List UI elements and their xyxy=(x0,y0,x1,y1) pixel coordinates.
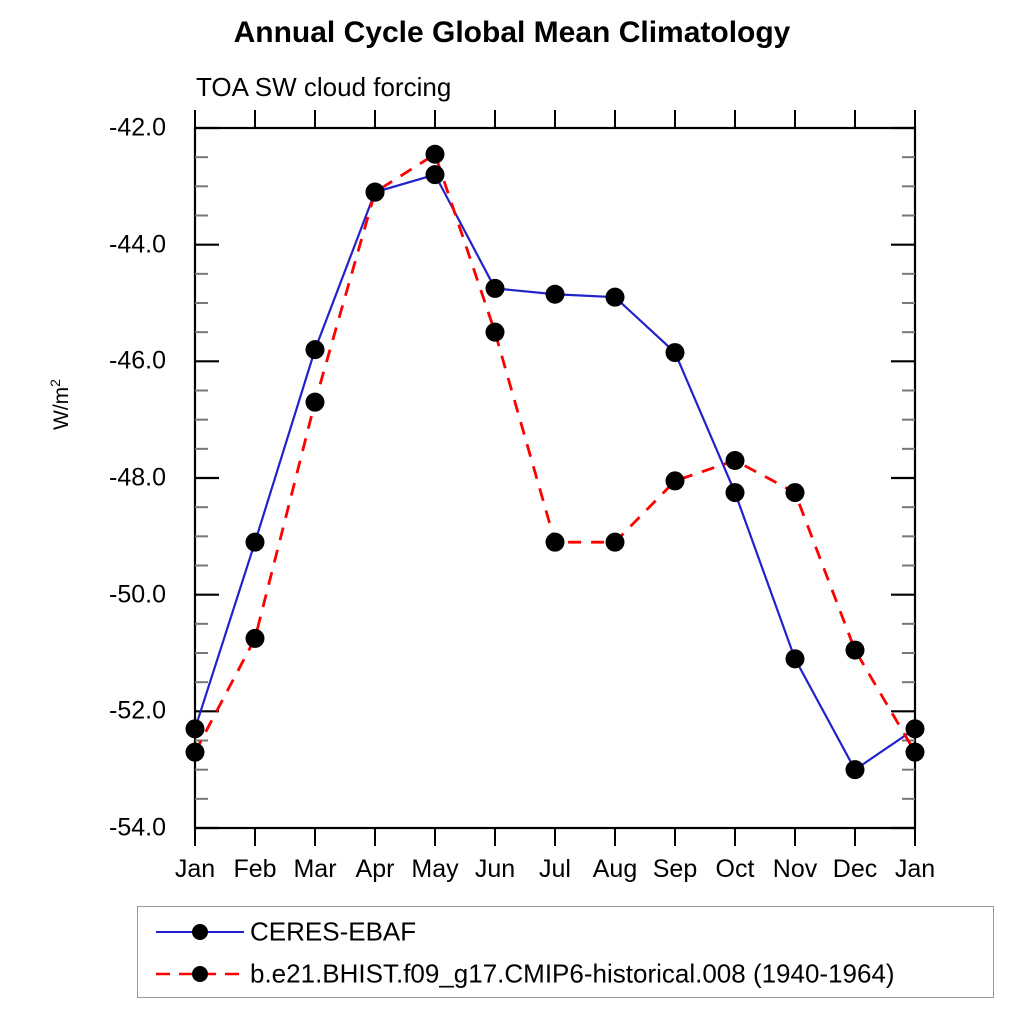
data-point xyxy=(786,649,805,668)
plot-frame xyxy=(195,128,915,828)
data-point xyxy=(606,288,625,307)
data-point xyxy=(246,629,265,648)
series-line-0 xyxy=(195,175,915,770)
legend-label-0: CERES-EBAF xyxy=(250,917,416,948)
data-point xyxy=(366,183,385,202)
data-point xyxy=(606,533,625,552)
plot-area xyxy=(0,0,1024,1024)
legend: CERES-EBAF b.e21.BHIST.f09_g17.CMIP6-his… xyxy=(137,906,994,998)
data-point xyxy=(306,340,325,359)
data-point xyxy=(486,323,505,342)
data-point xyxy=(666,471,685,490)
data-point xyxy=(546,533,565,552)
data-point xyxy=(846,641,865,660)
data-point xyxy=(246,533,265,552)
data-point xyxy=(726,483,745,502)
data-point xyxy=(426,165,445,184)
data-point xyxy=(426,145,445,164)
legend-entry-cesm-historical[interactable]: b.e21.BHIST.f09_g17.CMIP6-historical.008… xyxy=(138,951,993,997)
data-point xyxy=(726,451,745,470)
data-point xyxy=(186,719,205,738)
data-point xyxy=(846,760,865,779)
legend-entry-ceres-ebaf[interactable]: CERES-EBAF xyxy=(138,909,993,955)
data-point xyxy=(906,719,925,738)
chart-figure: Annual Cycle Global Mean Climatology TOA… xyxy=(0,0,1024,1024)
data-point xyxy=(186,743,205,762)
legend-label-1: b.e21.BHIST.f09_g17.CMIP6-historical.008… xyxy=(250,959,895,990)
series-line-1 xyxy=(195,154,915,752)
data-point xyxy=(666,343,685,362)
legend-sample-line-solid xyxy=(156,909,244,955)
legend-sample-line-dashed xyxy=(156,951,244,997)
data-point xyxy=(486,279,505,298)
data-point xyxy=(906,743,925,762)
data-point xyxy=(546,285,565,304)
data-point xyxy=(786,483,805,502)
data-point xyxy=(306,393,325,412)
